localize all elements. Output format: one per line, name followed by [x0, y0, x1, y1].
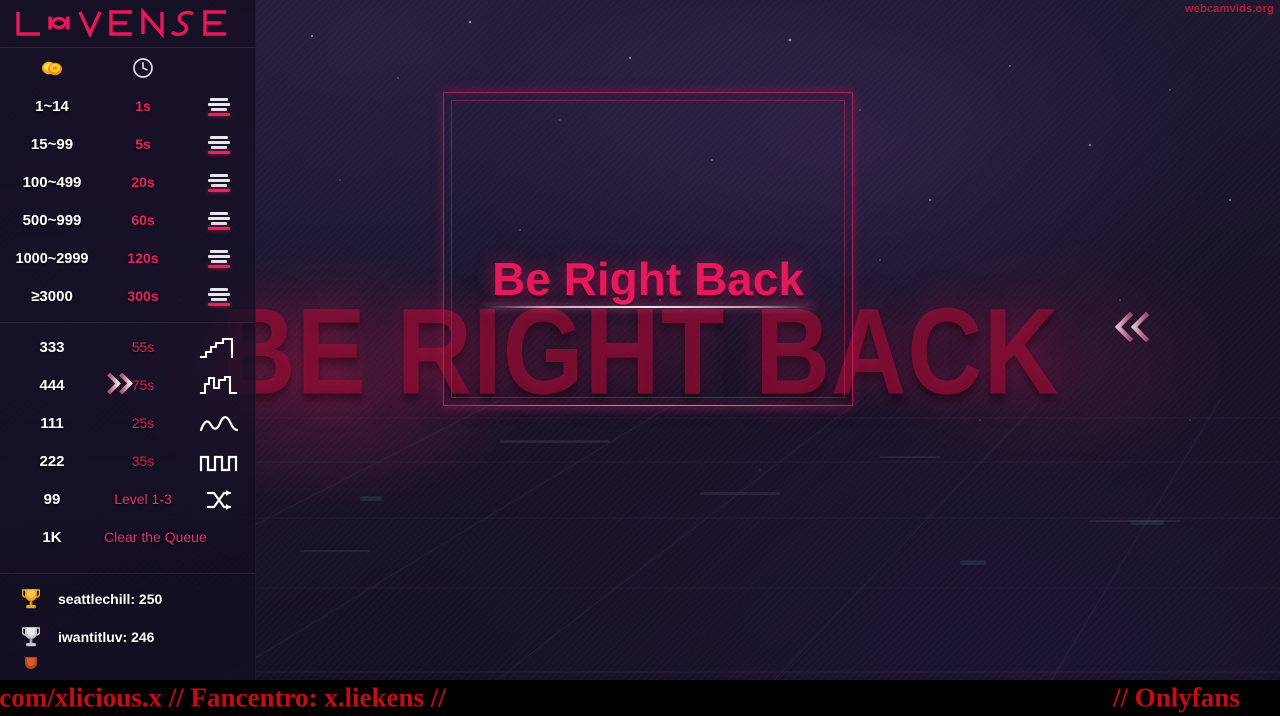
pattern-row-1k[interactable]: 1K Clear the Queue [0, 519, 255, 557]
tip-level-row[interactable]: 1~14 1s [0, 88, 255, 126]
tip-level-row[interactable]: 100~499 20s [0, 164, 255, 202]
stream-overlay-stage: BE RIGHT BACK BE RIGHT BACK Be Right Bac… [0, 0, 1280, 716]
pattern-row-444[interactable]: 444 75s [0, 367, 255, 405]
tip-level-duration: 1s [135, 98, 151, 114]
pattern-row-222[interactable]: 222 35s [0, 443, 255, 481]
tip-level-amount: 100~499 [23, 174, 82, 191]
pattern-amount: 444 [39, 377, 64, 394]
level-bars-icon [208, 98, 230, 116]
lovense-sidebar-panel: 1~14 1s 15~99 5s 100~499 20s 500~999 60s [0, 0, 256, 680]
leaderboard-row-1[interactable]: seattlechill: 250 [0, 580, 255, 618]
tip-level-amount: 1~14 [35, 98, 69, 115]
silver-trophy-icon [20, 625, 42, 649]
ticker-text-right: // Onlyfans [1113, 683, 1240, 714]
leaderboard-entry-text: seattlechill: 250 [58, 591, 162, 607]
brb-title-underline [483, 306, 813, 308]
pattern-duration: 25s [132, 415, 155, 431]
site-watermark: webcamvids.org [1185, 3, 1274, 15]
lovense-brand-logo [0, 0, 255, 48]
sidebar-divider [0, 573, 255, 574]
stairstep-wave-icon [199, 336, 239, 360]
tip-level-duration: 300s [127, 288, 158, 304]
pattern-duration: 35s [132, 453, 155, 469]
tip-level-amount: 15~99 [31, 136, 73, 153]
ticker-text-left: s.com/xlicious.x // Fancentro: x.liekens… [0, 683, 446, 714]
coins-icon [0, 58, 104, 78]
pattern-amount: 111 [40, 415, 63, 432]
background-glow-right [860, 240, 1240, 480]
pattern-duration: Level 1-3 [114, 491, 172, 507]
tip-level-amount: 500~999 [23, 212, 82, 229]
pattern-row-111[interactable]: 111 25s [0, 405, 255, 443]
double-chevron-right-icon [105, 373, 139, 400]
clear-queue-label: Clear the Queue [104, 529, 207, 545]
tip-level-row[interactable]: 15~99 5s [0, 126, 255, 164]
tip-level-amount: 1000~2999 [16, 251, 89, 267]
bottom-ticker-bar: s.com/xlicious.x // Fancentro: x.liekens… [0, 680, 1280, 716]
brb-neon-frame-inner [451, 100, 845, 398]
tip-level-duration: 120s [127, 250, 158, 266]
tip-table-header [0, 48, 255, 88]
pattern-amount: 333 [39, 339, 64, 356]
shuffle-icon [205, 488, 233, 512]
pattern-amount: 1K [42, 529, 61, 546]
pattern-amount: 222 [39, 453, 64, 470]
pattern-amount: 99 [44, 491, 61, 508]
tip-level-duration: 60s [131, 212, 154, 228]
tip-level-duration: 5s [135, 136, 151, 152]
brb-neon-frame [443, 92, 853, 406]
level-bars-icon [208, 136, 230, 154]
brb-title: Be Right Back [443, 252, 853, 306]
sine-wave-icon [198, 413, 240, 435]
pulse-wave-icon [199, 374, 239, 398]
pattern-row-333[interactable]: 333 55s [0, 329, 255, 367]
pattern-list: 333 55s 444 75s [0, 329, 255, 557]
tip-level-list: 1~14 1s 15~99 5s 100~499 20s 500~999 60s [0, 88, 255, 316]
tip-level-row[interactable]: 1000~2999 120s [0, 240, 255, 278]
tip-level-row[interactable]: ≥3000 300s [0, 278, 255, 316]
leaderboard-row-2[interactable]: iwantitluv: 246 [0, 618, 255, 656]
leaderboard-list: seattlechill: 250 iwantitluv: 246 [0, 580, 255, 678]
gold-trophy-icon [20, 587, 42, 611]
square-wave-icon [198, 451, 240, 473]
tip-level-amount: ≥3000 [31, 288, 73, 305]
level-bars-icon [208, 212, 230, 230]
tip-level-row[interactable]: 500~999 60s [0, 202, 255, 240]
bronze-trophy-icon [20, 656, 42, 678]
level-bars-icon [208, 174, 230, 192]
leaderboard-entry-text: iwantitluv: 246 [58, 629, 154, 645]
pattern-duration: 55s [132, 339, 155, 355]
level-bars-icon [208, 250, 230, 268]
double-chevron-left-icon [1112, 312, 1154, 347]
pattern-row-99[interactable]: 99 Level 1-3 [0, 481, 255, 519]
sidebar-divider [0, 322, 255, 323]
level-bars-icon [208, 288, 230, 306]
tip-level-duration: 20s [131, 174, 154, 190]
clock-icon [104, 57, 182, 79]
leaderboard-row-3-partial[interactable] [0, 656, 255, 678]
